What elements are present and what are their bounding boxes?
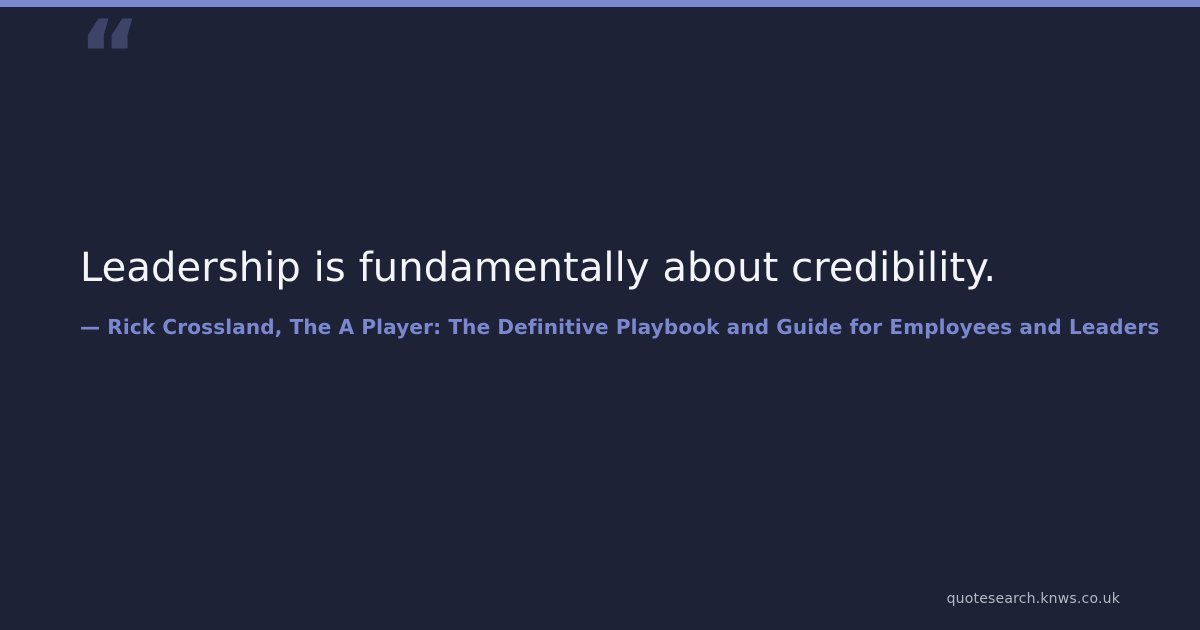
quote-attribution: — Rick Crossland, The A Player: The Defi… xyxy=(80,314,1200,340)
site-watermark: quotesearch.knws.co.uk xyxy=(947,591,1120,607)
attribution-em-dash: — xyxy=(80,315,100,339)
opening-quotation-mark-icon: “ xyxy=(78,8,139,104)
quote-content-block: Leadership is fundamentally about credib… xyxy=(80,243,1200,340)
quote-text: Leadership is fundamentally about credib… xyxy=(80,243,1200,294)
quote-card: “ Leadership is fundamentally about cred… xyxy=(0,0,1200,630)
top-accent-bar xyxy=(0,0,1200,7)
attribution-source-text: Rick Crossland, The A Player: The Defini… xyxy=(107,315,1159,339)
